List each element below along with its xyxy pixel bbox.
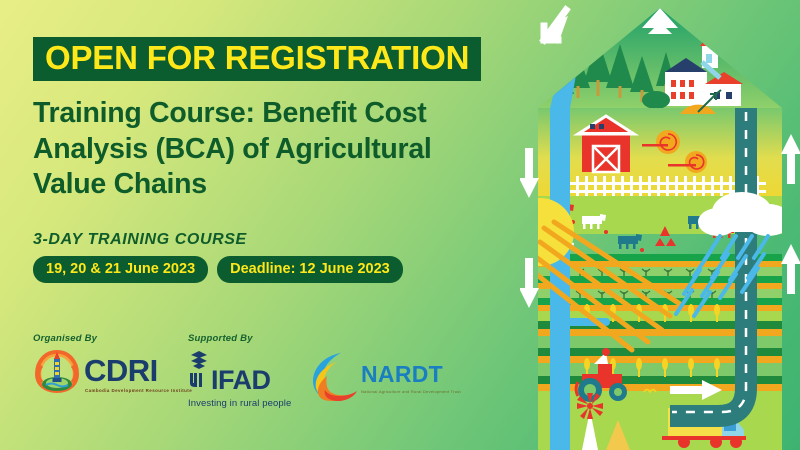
ifad-wordmark: IFAD (211, 367, 271, 394)
course-duration-subtitle: 3-DAY TRAINING COURSE (33, 231, 247, 249)
date-badges: 19, 20 & 21 June 2023 Deadline: 12 June … (33, 256, 403, 283)
down-arrow-diagonal (540, 10, 568, 44)
down-arrow-upper (520, 148, 539, 198)
ifad-wheat-icon (188, 349, 210, 394)
cdri-logo: CDRI Cambodia Development Resource Insti… (33, 348, 192, 399)
down-arrow-lower (520, 258, 539, 308)
ifad-tagline: Investing in rural people (188, 398, 291, 409)
cdri-wordmark: CDRI (84, 355, 192, 386)
logo-strip: Organised By (33, 333, 513, 423)
poster-root: OPEN FOR REGISTRATION Training Course: B… (0, 0, 800, 450)
logo-block-ifad: Supported By IFAD (188, 333, 291, 409)
up-arrow-lower (781, 244, 800, 294)
status-badge-dates: 19, 20 & 21 June 2023 (33, 256, 208, 283)
up-arrow-upper (781, 134, 800, 184)
agricultural-value-chain-illustration (520, 0, 800, 450)
supported-by-label: Supported By (188, 333, 291, 344)
logo-block-cdri: Organised By (33, 333, 192, 399)
nardt-wordmark: NARDT (361, 363, 461, 386)
logo-block-nardt: NARDT National Agriculture and Rural Dev… (311, 333, 461, 407)
organised-by-label: Organised By (33, 333, 192, 344)
house-shape-scene (520, 0, 800, 450)
status-badge-deadline: Deadline: 12 June 2023 (217, 256, 403, 283)
nardt-full-name: National Agriculture and Rural Developme… (361, 389, 461, 395)
cdri-full-name: Cambodia Development Resource Institute (85, 388, 192, 393)
nardt-crescent-icon (311, 350, 359, 407)
text-column: OPEN FOR REGISTRATION Training Course: B… (0, 0, 540, 450)
page-title: Training Course: Benefit Cost Analysis (… (33, 96, 503, 203)
registration-banner: OPEN FOR REGISTRATION (33, 37, 481, 81)
nardt-logo: NARDT National Agriculture and Rural Dev… (311, 350, 461, 407)
cdri-emblem-icon (33, 348, 81, 399)
ifad-logo: IFAD Investing in rural people (188, 349, 291, 409)
